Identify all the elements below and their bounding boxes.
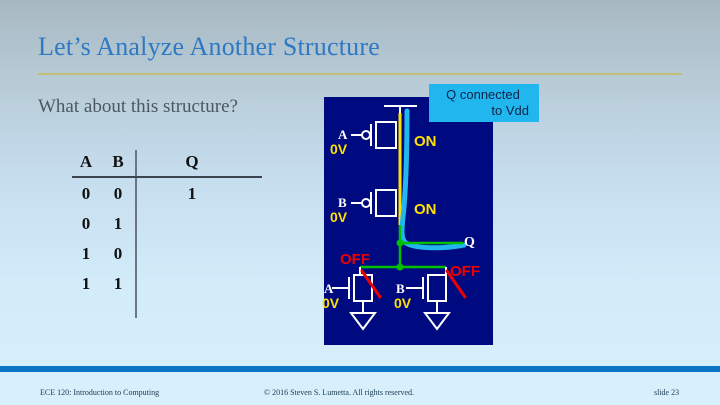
table-header-b: B <box>108 152 128 172</box>
callout-line-1: Q connected <box>433 87 533 103</box>
nmos-a-body <box>354 275 372 301</box>
pmos-a-state-label: ON <box>414 133 437 150</box>
callout-box: Q connected to Vdd <box>429 84 539 122</box>
footer-copyright: © 2016 Steven S. Lumetta. All rights res… <box>264 388 414 397</box>
footer-slide-number: slide 23 <box>654 388 679 397</box>
conducting-path-highlight <box>402 111 464 248</box>
page-title: Let’s Analyze Another Structure <box>38 32 380 62</box>
ground-symbol-left-icon <box>351 313 375 329</box>
junction-dot-upper <box>397 240 404 247</box>
table-row: 1 <box>108 274 128 294</box>
pmos-a-voltage-label: 0V <box>330 141 347 157</box>
pmos-a-inversion-bubble-icon <box>362 131 370 139</box>
table-row: 0 <box>76 214 96 234</box>
lead-question: What about this structure? <box>38 96 238 118</box>
nmos-b-voltage-label: 0V <box>394 295 411 311</box>
pmos-b-voltage-label: 0V <box>330 209 347 225</box>
output-node-label: Q <box>464 235 475 251</box>
nmos-a-voltage-label: 0V <box>322 295 339 311</box>
nmos-b-state-label: OFF <box>450 263 480 280</box>
table-row: 1 <box>108 214 128 234</box>
table-header-q: Q <box>182 152 202 172</box>
nmos-a-state-label: OFF <box>340 251 370 268</box>
junction-dot-lower <box>397 264 404 271</box>
table-header-divider <box>72 176 262 178</box>
table-row: 0 <box>76 184 96 204</box>
table-header-a: A <box>76 152 96 172</box>
table-row: 1 <box>76 244 96 264</box>
slide-root: Let’s Analyze Another Structure What abo… <box>0 0 720 405</box>
cmos-circuit-diagram: A 0V ON B 0V ON Q OFF A 0V OFF B 0V <box>324 97 493 345</box>
table-row: 1 <box>76 274 96 294</box>
table-row: 1 <box>182 184 202 204</box>
truth-table: A B Q 0 0 1 0 1 1 0 1 1 <box>72 150 268 318</box>
pmos-b-inversion-bubble-icon <box>362 199 370 207</box>
footer-course: ECE 120: Introduction to Computing <box>40 388 159 397</box>
nmos-b-body <box>428 275 446 301</box>
ground-symbol-right-icon <box>425 313 449 329</box>
pmos-b-state-label: ON <box>414 201 437 218</box>
callout-line-2: to Vdd <box>433 103 533 119</box>
table-row: 0 <box>108 244 128 264</box>
title-divider <box>38 73 682 75</box>
table-row: 0 <box>108 184 128 204</box>
pmos-b-body <box>376 190 396 216</box>
pmos-a-body <box>376 122 396 148</box>
